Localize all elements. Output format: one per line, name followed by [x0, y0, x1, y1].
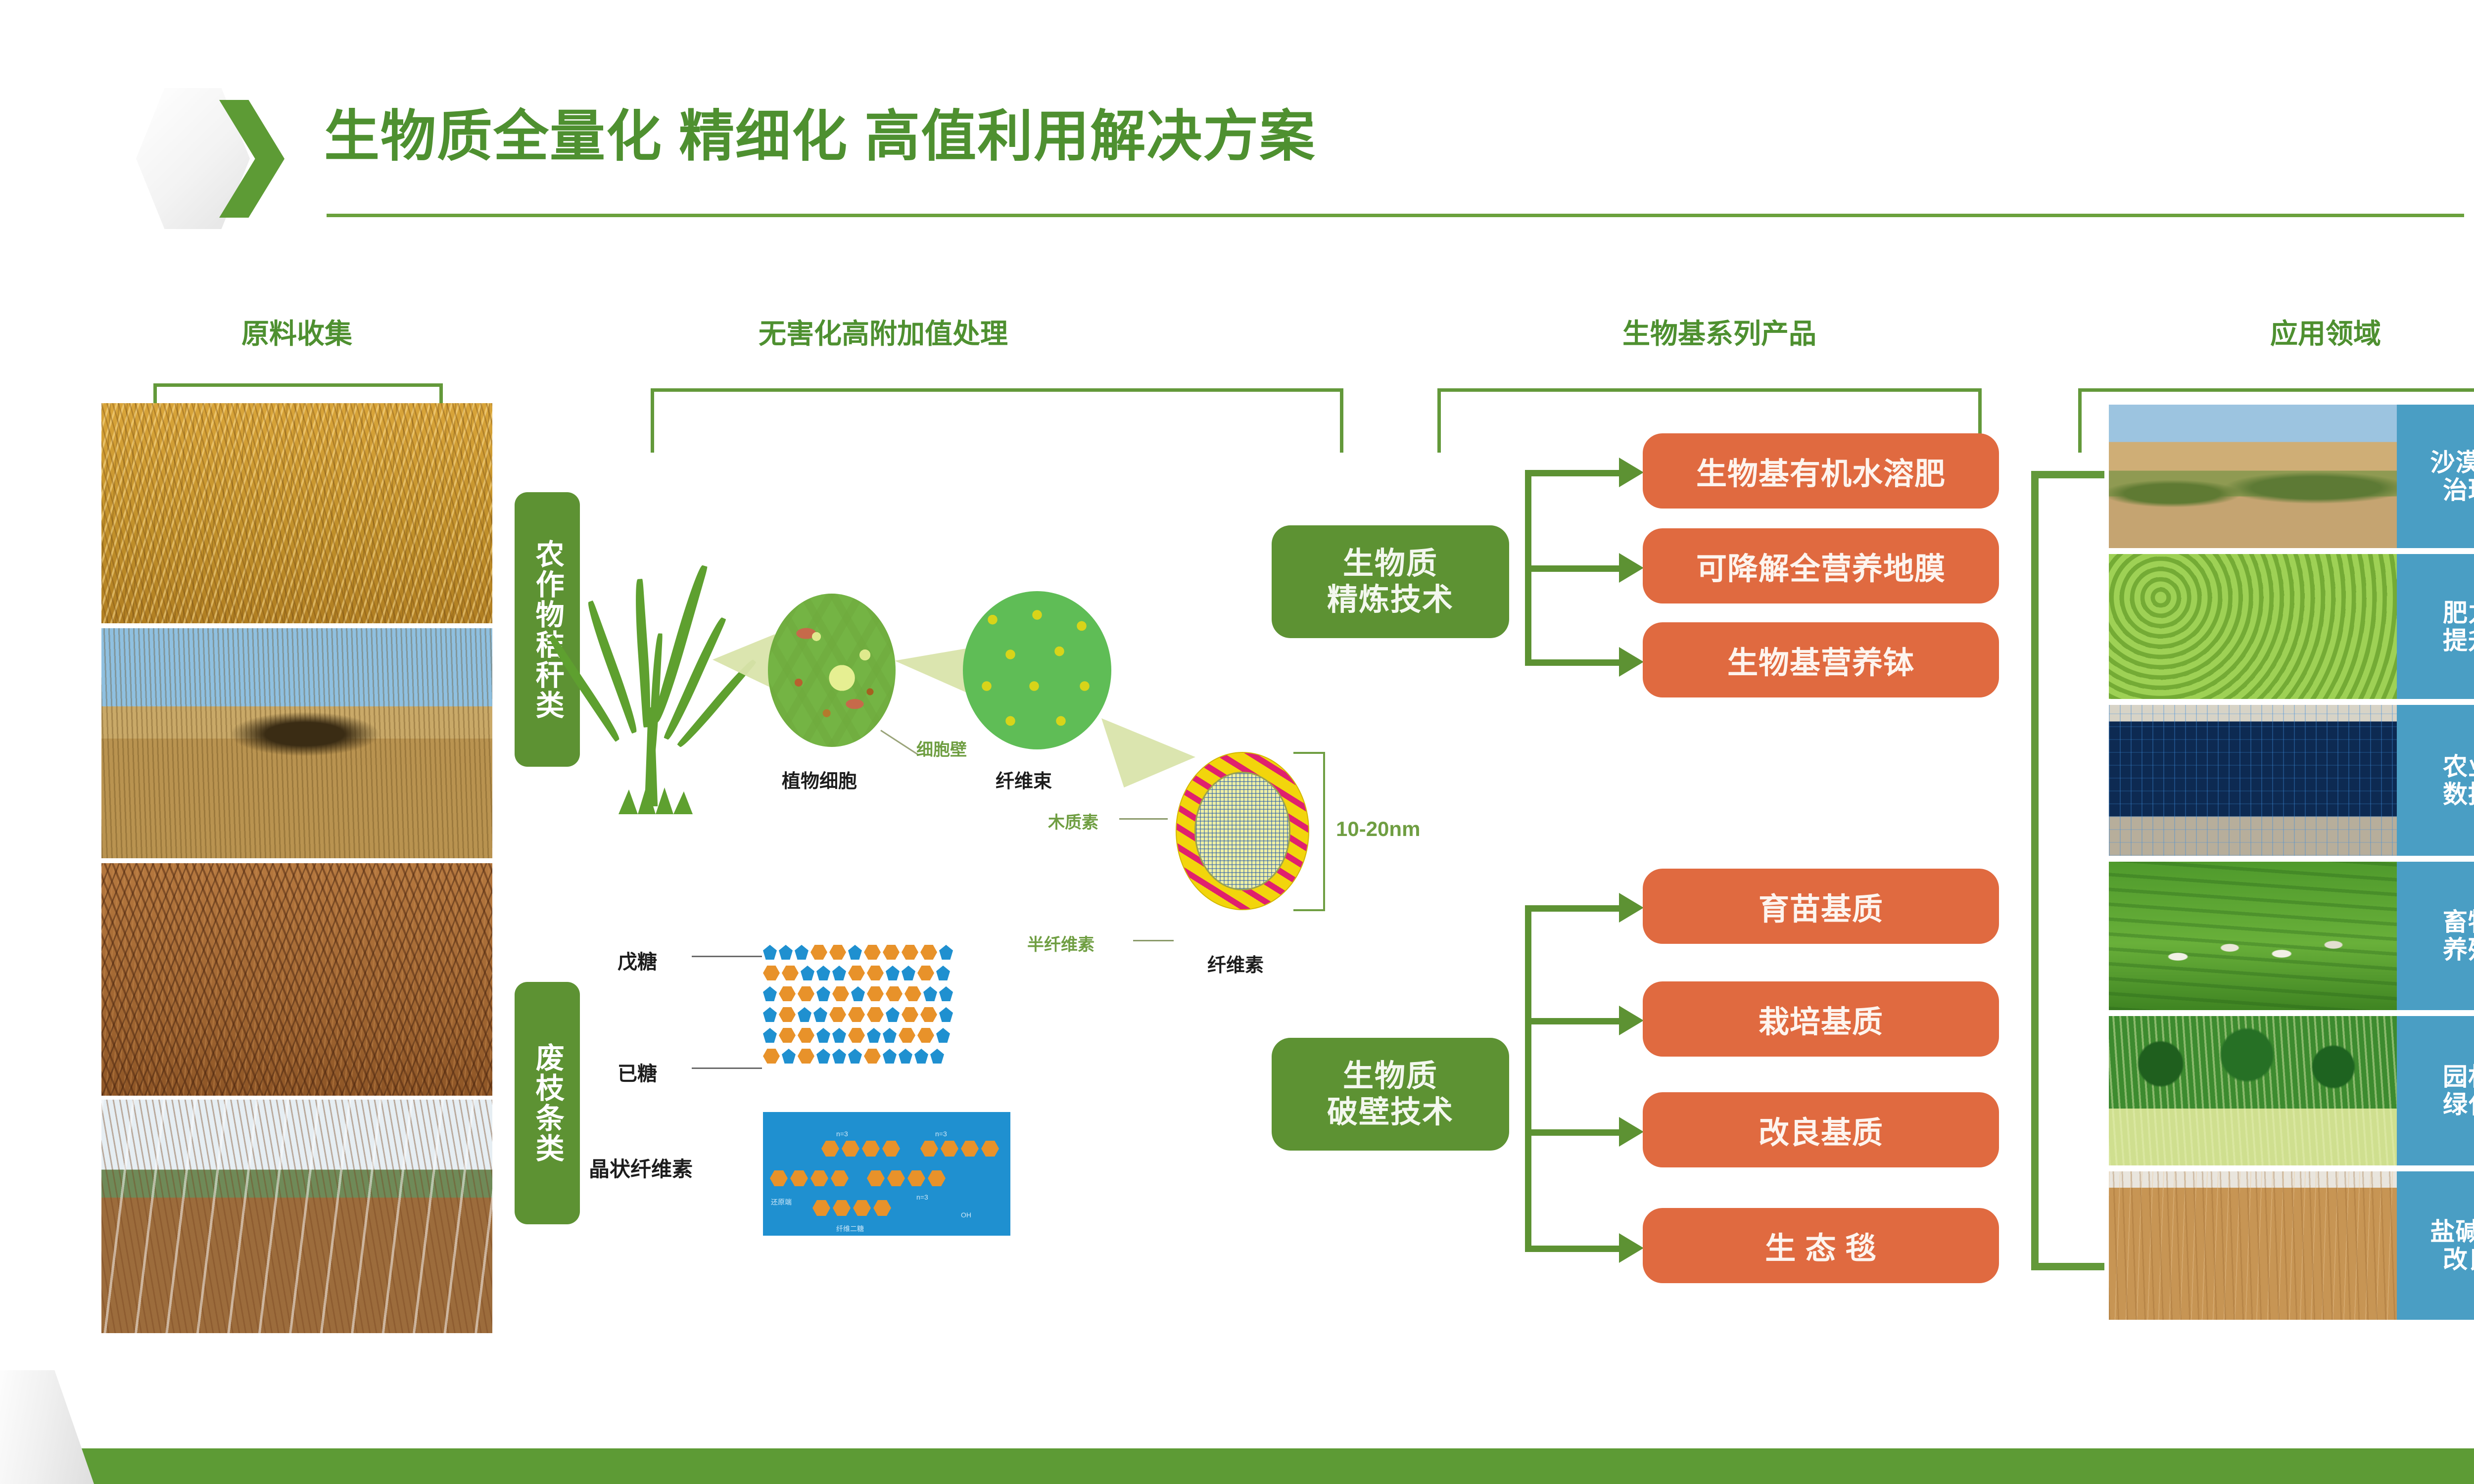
cell-wall-label: 细胞壁	[916, 736, 967, 760]
dimension-tick-top	[1293, 752, 1325, 754]
app-label-line-1: 肥力	[2443, 599, 2474, 627]
application-row-landscape-greening[interactable]: 园林 绿化	[2109, 1016, 2474, 1165]
lignin-leader-line	[1119, 818, 1168, 820]
plant-cell-illustration	[768, 594, 896, 747]
raw-material-photo-column	[101, 403, 492, 1333]
application-row-saline-alkali-improvement[interactable]: 盐碱地 改良	[2109, 1171, 2474, 1320]
application-label-desertification-control: 沙漠化 治理	[2397, 405, 2474, 548]
arrow-head-product-2	[1619, 553, 1644, 583]
app-label-line-1: 农业	[2443, 753, 2474, 781]
bracket-harmless-processing	[651, 388, 1343, 453]
section-header-raw-collection: 原料收集	[146, 312, 448, 352]
app-label-line-2: 绿化	[2443, 1091, 2474, 1118]
straw-bale-field-photo	[101, 628, 492, 858]
arrow-head-product-7	[1619, 1233, 1644, 1263]
pentose-leader-line	[692, 956, 762, 957]
cell-wall-leader-line	[880, 730, 919, 756]
tech-box-line-1: 生物质	[1343, 1058, 1438, 1094]
arrow-head-product-3	[1619, 647, 1644, 677]
connector-stem-product-4	[1525, 905, 1624, 912]
dimension-tick-bottom	[1293, 909, 1325, 911]
app-label-line-2: 提升	[2443, 627, 2474, 654]
hemicellulose-leader-line	[1133, 940, 1174, 941]
arrow-head-product-5	[1619, 1006, 1644, 1035]
biomass-refining-tech-box[interactable]: 生物质 精炼技术	[1272, 525, 1509, 638]
desertification-control-photo	[2109, 405, 2397, 548]
application-label-livestock-breeding: 畜牧 养殖	[2397, 862, 2474, 1010]
hexose-label: 已糖	[618, 1058, 657, 1086]
section-header-application-fields: 应用领域	[2078, 312, 2474, 352]
connector-stem-product-2	[1525, 565, 1624, 572]
product-pill-improvement-substrate[interactable]: 改良基质	[1643, 1092, 1999, 1167]
saline-alkali-land-photo	[2109, 1171, 2397, 1320]
lignin-label: 木质素	[1048, 809, 1098, 833]
section-header-biobased-products: 生物基系列产品	[1425, 312, 2014, 352]
application-row-livestock-breeding[interactable]: 畜牧 养殖	[2109, 862, 2474, 1010]
product-pill-seedling-substrate[interactable]: 育苗基质	[1643, 869, 1999, 944]
pentose-label: 戊糖	[618, 946, 657, 974]
connector-stem-product-3	[1525, 659, 1624, 666]
application-fields-column: 沙漠化 治理 肥力 提升 农业 数据 畜牧 养殖	[2109, 405, 2474, 1349]
crystalline-cellulose-illustration: n=3 n=3 n=3 还原端 纤维二糖 OH	[763, 1112, 1010, 1236]
application-row-fertility-improvement[interactable]: 肥力 提升	[2109, 554, 2474, 699]
app-label-line-1: 畜牧	[2443, 908, 2474, 936]
crystal-n3-label-a: n=3	[836, 1130, 848, 1138]
crystal-n3-label-c: n=3	[916, 1193, 928, 1201]
app-label-line-2: 改良	[2443, 1246, 2474, 1273]
app-label-line-1: 盐碱地	[2430, 1218, 2474, 1246]
zoom-cone-cell-to-fiber	[895, 648, 969, 694]
application-row-desertification-control[interactable]: 沙漠化 治理	[2109, 405, 2474, 548]
crystal-n3-label-b: n=3	[935, 1130, 947, 1138]
oh-label: OH	[961, 1211, 971, 1219]
connector-stem-product-6	[1525, 1129, 1624, 1136]
product-pill-nutrition-pot[interactable]: 生物基营养钵	[1643, 622, 1999, 697]
product-pill-cultivation-substrate[interactable]: 栽培基质	[1643, 981, 1999, 1057]
connector-stem-product-1	[1525, 470, 1624, 476]
connector-stem-product-5	[1525, 1018, 1624, 1024]
zoom-cone-fiber-to-nano	[1101, 718, 1195, 788]
app-label-line-1: 沙漠化	[2430, 449, 2474, 476]
title-hexagon-logo	[136, 88, 285, 229]
hexose-leader-line	[692, 1067, 762, 1069]
biomass-cell-wall-breaking-tech-box[interactable]: 生物质 破壁技术	[1272, 1038, 1509, 1151]
bracket-products-to-applications	[2031, 471, 2104, 1270]
arrow-head-product-4	[1619, 893, 1644, 923]
pruned-branches-photo	[101, 863, 492, 1096]
product-pill-degradable-mulch-film[interactable]: 可降解全营养地膜	[1643, 528, 1999, 603]
connector-stem-product-7	[1525, 1246, 1624, 1252]
agriculture-data-photo	[2109, 705, 2397, 856]
product-pill-ecological-blanket[interactable]: 生 态 毯	[1643, 1208, 1999, 1283]
dimension-value-label: 10-20nm	[1336, 817, 1420, 841]
application-label-fertility-improvement: 肥力 提升	[2397, 554, 2474, 699]
vineyard-pruning-photo	[101, 1100, 492, 1333]
page-title: 生物质全量化 精细化 高值利用解决方案	[324, 92, 1316, 172]
cellulose-label: 纤维素	[1207, 950, 1264, 977]
reducing-end-label: 还原端	[771, 1197, 792, 1207]
cellulose-core	[1194, 772, 1290, 890]
crystalline-cellulose-label: 晶状纤维素	[589, 1153, 693, 1183]
grass-plant-icon	[584, 559, 732, 816]
product-pill-bio-organic-fertilizer[interactable]: 生物基有机水溶肥	[1643, 433, 1999, 509]
fertility-improvement-photo	[2109, 554, 2397, 699]
dimension-vertical-line	[1323, 752, 1325, 911]
section-header-harmless-processing: 无害化高附加值处理	[574, 312, 1192, 352]
application-label-saline-alkali-improvement: 盐碱地 改良	[2397, 1171, 2474, 1320]
connector-trunk-group2	[1525, 905, 1531, 1252]
tech-box-line-2: 破壁技术	[1327, 1094, 1454, 1130]
arrow-head-product-6	[1619, 1117, 1644, 1147]
bottom-left-wedge-decoration	[0, 1370, 94, 1484]
app-label-line-2: 养殖	[2443, 936, 2474, 964]
landscape-greening-photo	[2109, 1016, 2397, 1165]
waste-branch-tag[interactable]: 废枝条类	[515, 982, 580, 1224]
crop-straw-tag[interactable]: 农作物秸秆类	[515, 492, 580, 767]
application-label-landscape-greening: 园林 绿化	[2397, 1016, 2474, 1165]
fiber-bundle-label: 纤维束	[996, 766, 1052, 793]
tech-box-line-2: 精炼技术	[1327, 582, 1454, 618]
plant-cell-label: 植物细胞	[782, 766, 857, 793]
bottom-green-bar	[79, 1448, 2474, 1484]
livestock-breeding-photo	[2109, 862, 2397, 1010]
application-label-agriculture-data: 农业 数据	[2397, 705, 2474, 856]
cellobiose-label: 纤维二糖	[836, 1224, 864, 1234]
app-label-line-2: 治理	[2443, 476, 2474, 504]
arrow-head-product-1	[1619, 458, 1644, 487]
title-underline-divider	[327, 214, 2464, 217]
app-label-line-2: 数据	[2443, 781, 2474, 808]
application-row-agriculture-data[interactable]: 农业 数据	[2109, 705, 2474, 856]
tech-box-line-1: 生物质	[1343, 546, 1438, 582]
hemicellulose-label: 半纤维素	[1027, 931, 1094, 955]
app-label-line-1: 园林	[2443, 1063, 2474, 1091]
corn-straw-field-photo	[101, 403, 492, 623]
fiber-bundle-illustration	[963, 591, 1111, 749]
